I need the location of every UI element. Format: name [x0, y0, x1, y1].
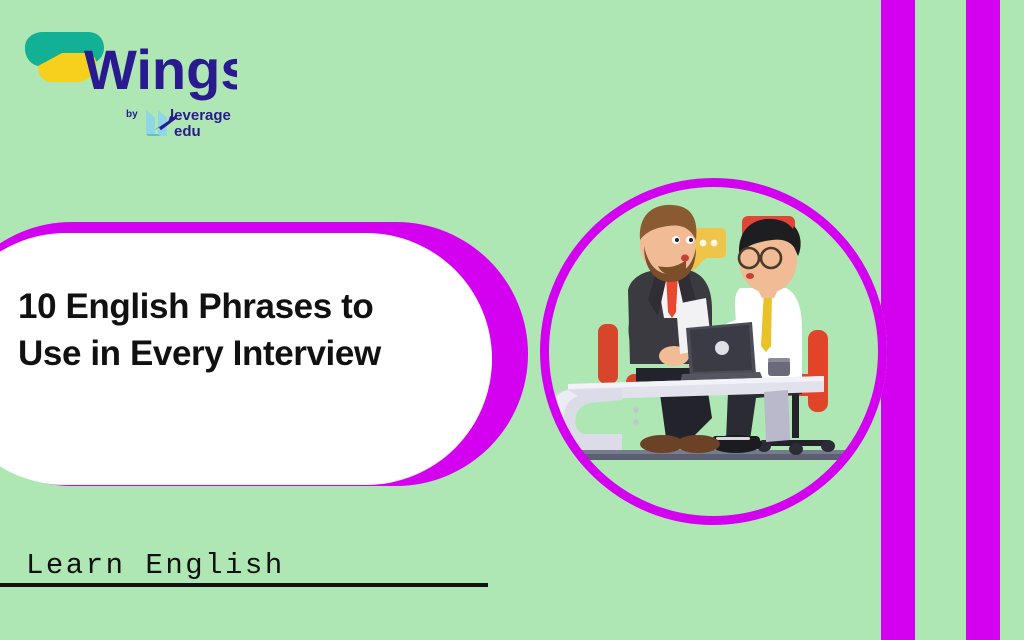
- page-title-line-2: Use in Every Interview: [18, 331, 438, 378]
- sub-brand-line1: leverage: [170, 107, 231, 124]
- sub-brand-line2: edu: [174, 123, 201, 136]
- page-title: 10 English Phrases to Use in Every Inter…: [18, 284, 438, 377]
- decor-vertical-bar-1: [881, 0, 915, 640]
- brand-wordmark: Wings: [84, 38, 237, 101]
- brand-by-label: by: [126, 109, 138, 120]
- decor-vertical-bar-2: [966, 0, 1000, 640]
- headline-panel: 10 English Phrases to Use in Every Inter…: [0, 222, 528, 486]
- category-underline: [0, 583, 488, 587]
- page-title-line-1: 10 English Phrases to: [18, 284, 438, 331]
- brand-logo[interactable]: Wings by leverage edu: [22, 26, 237, 136]
- poster-canvas: Wings by leverage edu 10 English Phrases…: [0, 0, 1024, 640]
- illustration-circle-frame: [540, 178, 887, 525]
- category-label: Learn English: [26, 549, 285, 582]
